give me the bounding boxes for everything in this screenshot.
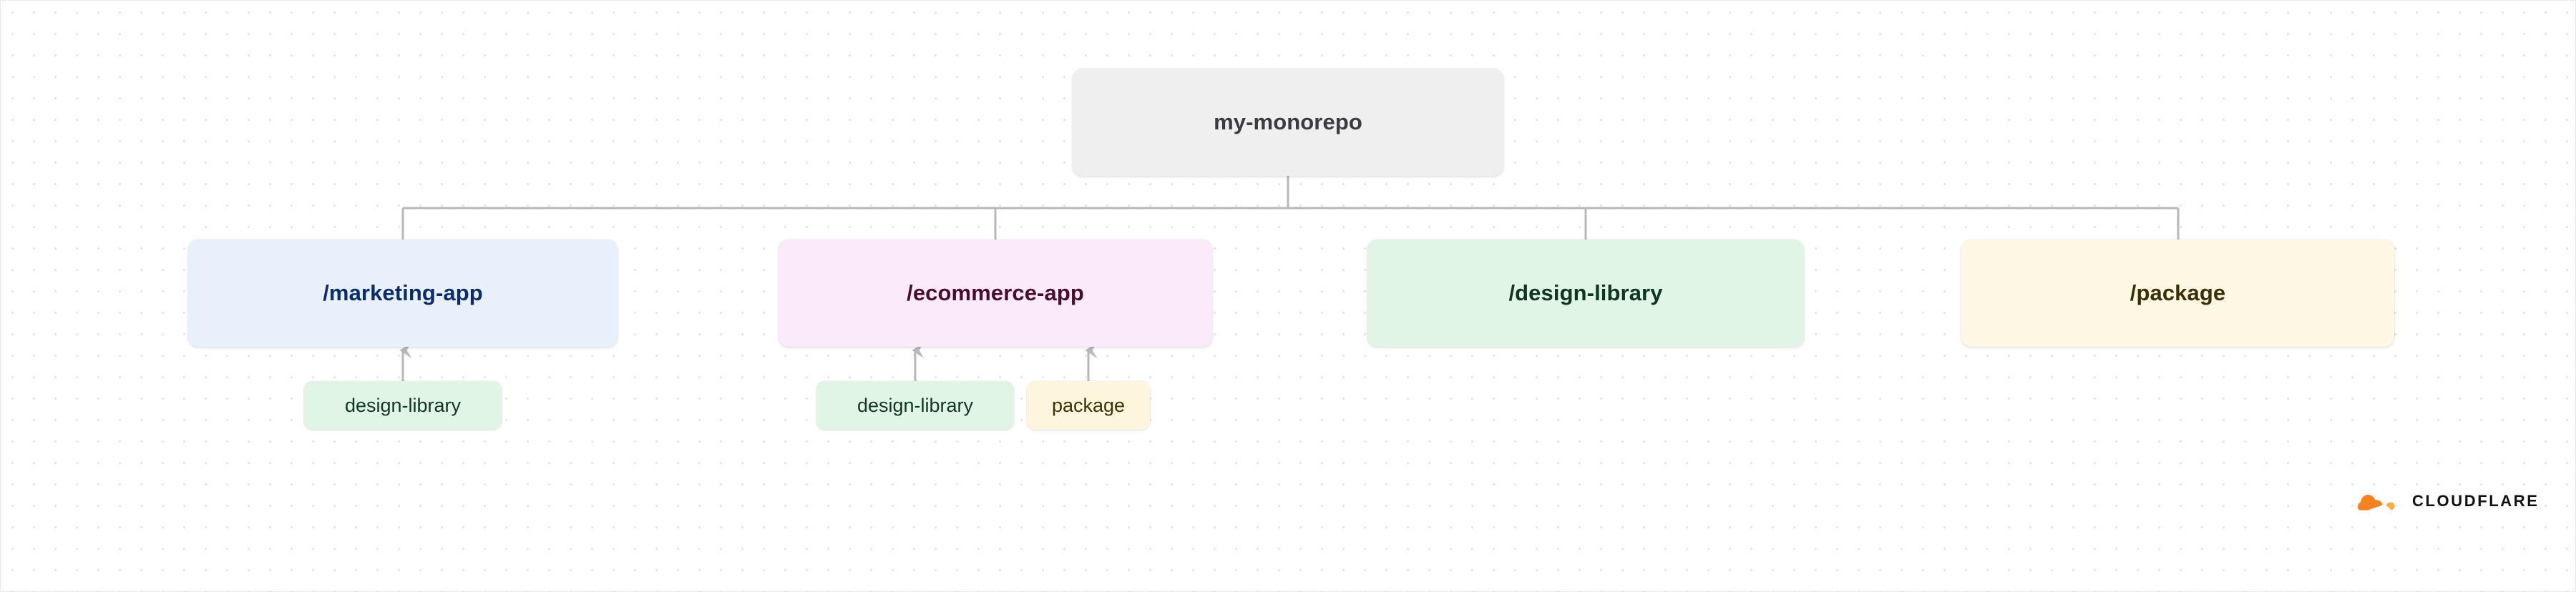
node-label: /marketing-app bbox=[323, 280, 483, 306]
dependency-badge-label: design-library bbox=[345, 395, 461, 417]
node-design-library[interactable]: /design-library bbox=[1367, 240, 1804, 347]
dependency-badge-ecommerce-design-library[interactable]: design-library bbox=[816, 381, 1014, 430]
node-ecommerce-app[interactable]: /ecommerce-app bbox=[779, 240, 1212, 347]
node-package[interactable]: /package bbox=[1961, 240, 2394, 347]
diagram-canvas: my-monorepo /marketing-app /ecommerce-ap… bbox=[0, 0, 2576, 592]
node-marketing-app[interactable]: /marketing-app bbox=[188, 240, 618, 347]
dependency-badge-marketing-design-library[interactable]: design-library bbox=[304, 381, 502, 430]
dependency-badge-label: design-library bbox=[857, 395, 973, 417]
cloudflare-logo: CLOUDFLARE bbox=[2356, 490, 2540, 513]
node-label: /package bbox=[2130, 280, 2226, 306]
node-label: /ecommerce-app bbox=[907, 280, 1084, 306]
node-label: my-monorepo bbox=[1214, 109, 1362, 135]
node-label: /design-library bbox=[1508, 280, 1662, 306]
dependency-badge-label: package bbox=[1052, 395, 1125, 417]
cloudflare-wordmark: CLOUDFLARE bbox=[2412, 493, 2540, 509]
dependency-badge-ecommerce-package[interactable]: package bbox=[1027, 381, 1150, 430]
cloudflare-cloud-icon bbox=[2356, 490, 2402, 513]
node-my-monorepo[interactable]: my-monorepo bbox=[1073, 69, 1503, 176]
